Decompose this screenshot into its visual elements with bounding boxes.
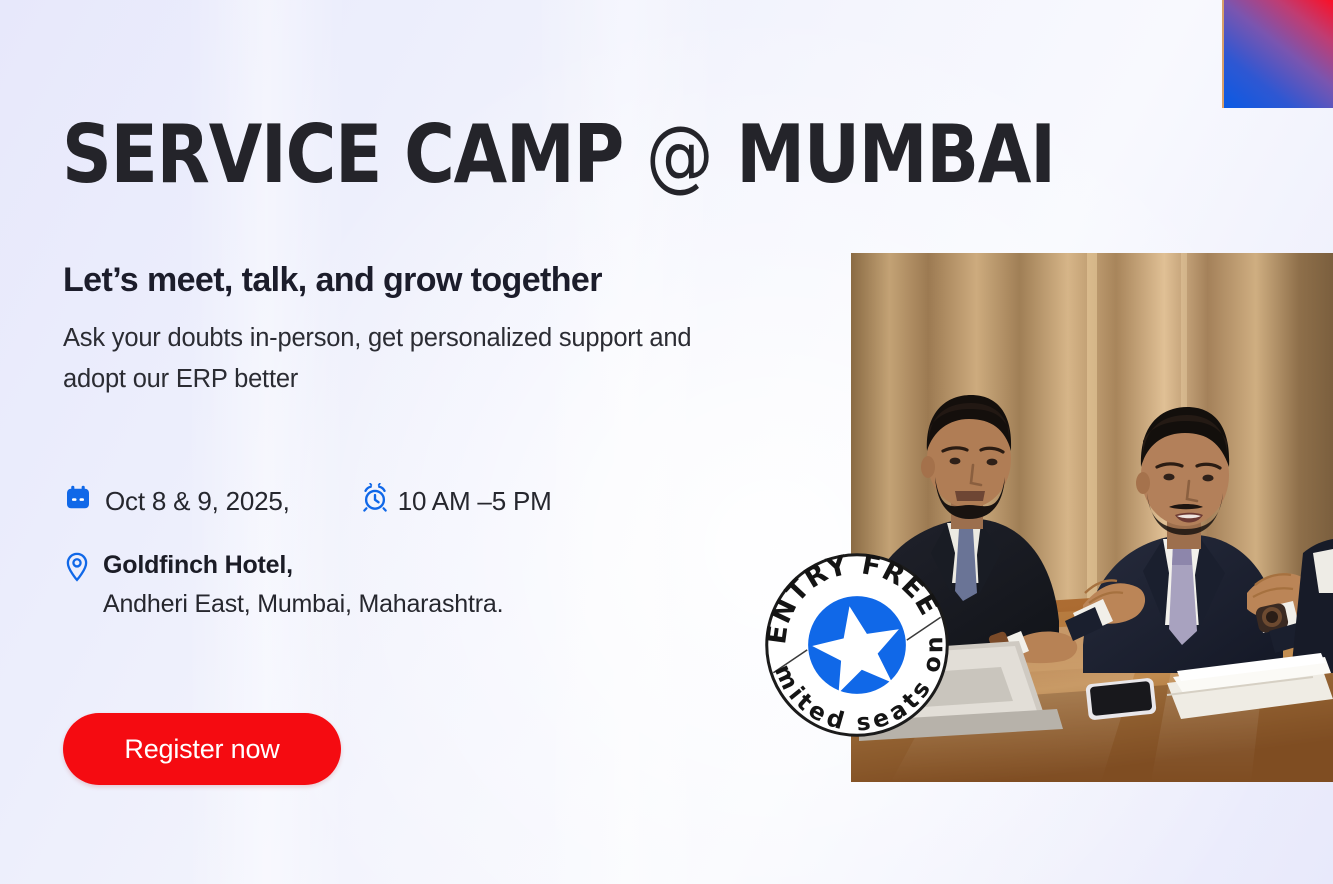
event-time-text: 10 AM –5 PM	[398, 486, 552, 516]
at-symbol: @	[646, 111, 713, 201]
page-title-city: MUMBAI	[713, 108, 1054, 201]
map-pin-icon	[63, 548, 91, 587]
alarm-clock-icon	[360, 483, 390, 518]
event-date-text: Oct 8 & 9, 2025,	[105, 486, 290, 516]
register-now-button[interactable]: Register now	[63, 713, 341, 785]
page-title-main: SERVICE CAMP	[62, 108, 646, 201]
event-datetime-row: Oct 8 & 9, 2025, 10 AM –5 PM	[63, 483, 552, 518]
page-title: SERVICE CAMP @ MUMBAI	[62, 112, 1055, 199]
event-time: 10 AM –5 PM	[360, 483, 552, 518]
event-location: Goldfinch Hotel, Andheri East, Mumbai, M…	[63, 548, 503, 625]
venue-name: Goldfinch Hotel,	[103, 548, 503, 583]
subheading: Let’s meet, talk, and grow together	[63, 258, 602, 302]
venue-address: Andheri East, Mumbai, Maharashtra.	[103, 583, 503, 625]
entry-free-badge: ENTRY FREE Limited seats only	[747, 535, 967, 755]
calendar-icon	[63, 483, 93, 518]
event-date: Oct 8 & 9, 2025,	[63, 483, 290, 518]
description-text: Ask your doubts in-person, get personali…	[63, 318, 743, 400]
corner-gradient-block	[1222, 0, 1333, 108]
location-lines: Goldfinch Hotel, Andheri East, Mumbai, M…	[103, 548, 503, 625]
service-camp-banner: SERVICE CAMP @ MUMBAI Let’s meet, talk, …	[0, 0, 1333, 884]
